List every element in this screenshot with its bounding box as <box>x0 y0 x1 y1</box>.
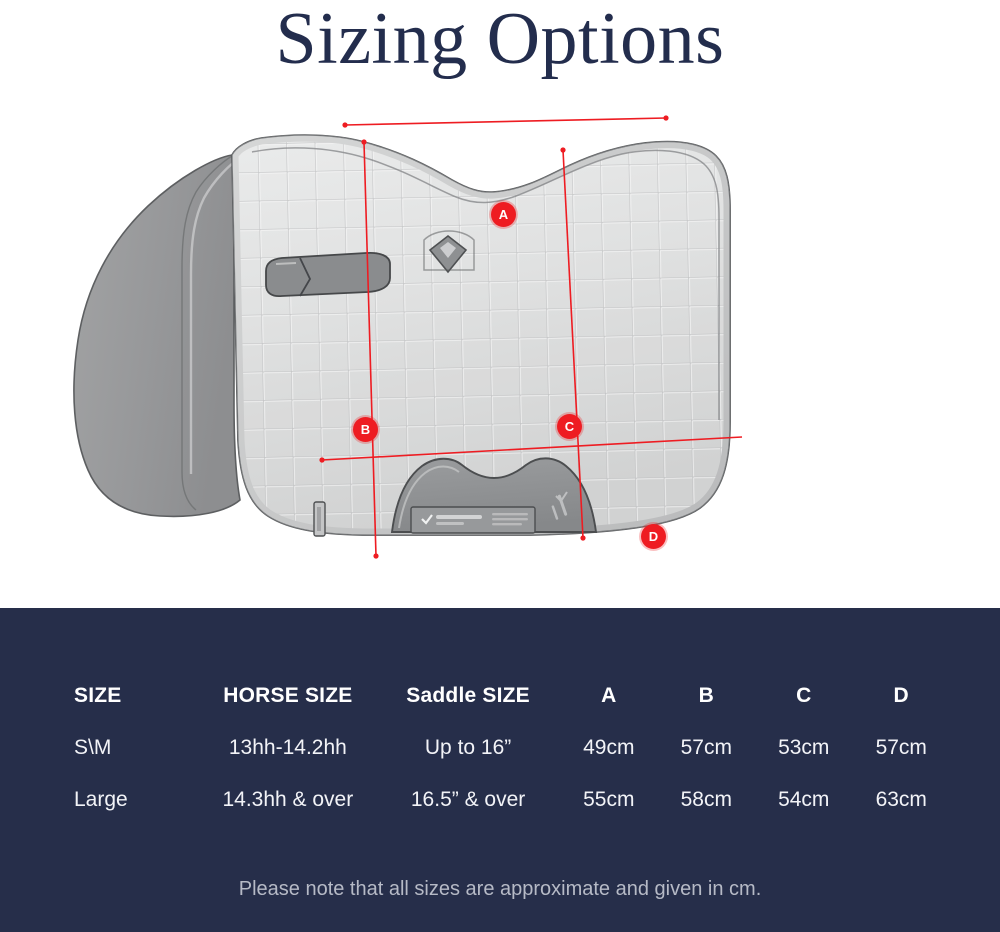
cell-d: 57cm <box>852 722 950 774</box>
cell-horse-size: 14.3hh & over <box>200 774 376 826</box>
hero-section: Sizing Options <box>0 0 1000 608</box>
cell-a: 55cm <box>560 774 657 826</box>
size-chart-table: SIZE HORSE SIZE Saddle SIZE A B C D S\M … <box>60 670 950 826</box>
cell-c: 53cm <box>755 722 852 774</box>
size-chart-note: Please note that all sizes are approxima… <box>0 878 1000 901</box>
table-row: S\M 13hh-14.2hh Up to 16” 49cm 57cm 53cm… <box>60 722 950 774</box>
pad-back-panel <box>74 155 240 516</box>
table-row: Large 14.3hh & over 16.5” & over 55cm 58… <box>60 774 950 826</box>
girth-keeper-strap <box>266 253 390 296</box>
column-header-saddle-size: Saddle SIZE <box>376 670 560 722</box>
page-title: Sizing Options <box>0 0 1000 82</box>
column-header-d: D <box>852 670 950 722</box>
care-label <box>411 507 535 533</box>
column-header-b: B <box>658 670 755 722</box>
cell-horse-size: 13hh-14.2hh <box>200 722 376 774</box>
cell-d: 63cm <box>852 774 950 826</box>
column-header-a: A <box>560 670 657 722</box>
saddle-pad-diagram: A B C D <box>0 92 1000 592</box>
cell-b: 58cm <box>658 774 755 826</box>
side-brand-tab <box>314 502 325 536</box>
cell-saddle-size: Up to 16” <box>376 722 560 774</box>
cell-a: 49cm <box>560 722 657 774</box>
table-header-row: SIZE HORSE SIZE Saddle SIZE A B C D <box>60 670 950 722</box>
measure-line-a <box>342 115 668 127</box>
cell-c: 54cm <box>755 774 852 826</box>
cell-size: S\M <box>60 722 200 774</box>
cell-b: 57cm <box>658 722 755 774</box>
column-header-horse-size: HORSE SIZE <box>200 670 376 722</box>
saddle-pad-illustration <box>0 92 1000 592</box>
column-header-size: SIZE <box>60 670 200 722</box>
cell-size: Large <box>60 774 200 826</box>
column-header-c: C <box>755 670 852 722</box>
measure-badge-b: B <box>353 417 378 442</box>
measure-badge-a: A <box>491 202 516 227</box>
cell-saddle-size: 16.5” & over <box>376 774 560 826</box>
measure-badge-c: C <box>557 414 582 439</box>
measure-badge-d: D <box>641 524 666 549</box>
size-chart-panel: SIZE HORSE SIZE Saddle SIZE A B C D S\M … <box>0 608 1000 932</box>
